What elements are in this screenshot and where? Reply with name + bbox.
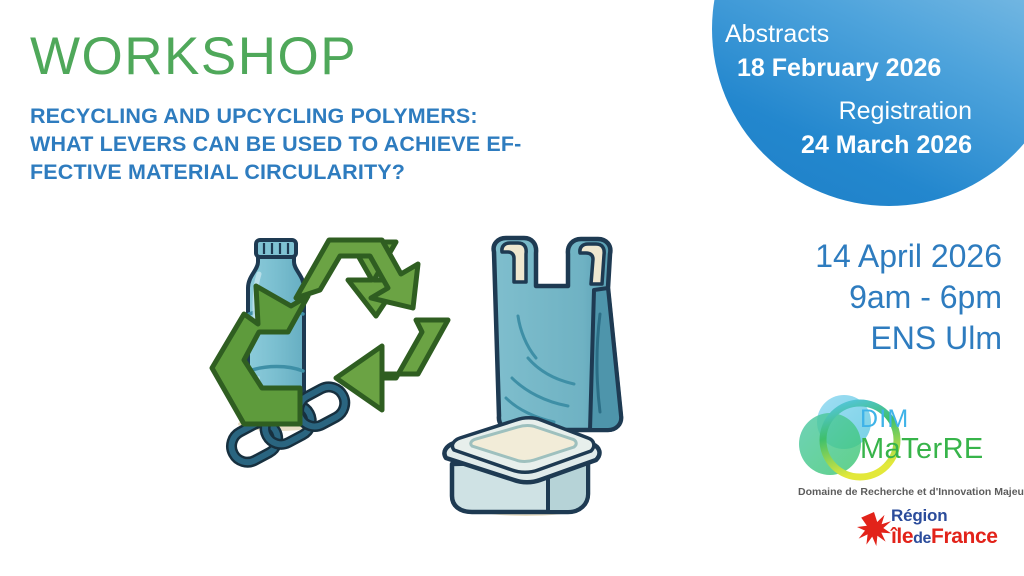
dim-materre-logo: DIM MaTerRE: [798, 392, 994, 488]
subtitle-line-1: RECYCLING AND UPCYCLING POLYMERS:: [30, 102, 630, 130]
deadline-abstracts-date: 18 February 2026: [725, 51, 1024, 85]
dim-line-1: DIM: [860, 406, 984, 433]
page-subtitle: RECYCLING AND UPCYCLING POLYMERS: WHAT L…: [30, 102, 630, 186]
idf-line-2: îledeFrance: [891, 525, 998, 550]
plastic-bag: [494, 238, 621, 430]
idf-france: France: [931, 525, 997, 548]
idf-line-1: Région: [891, 507, 998, 525]
deadline-registration: Registration 24 March 2026: [712, 95, 1024, 162]
dim-line-2: MaTerRE: [860, 433, 984, 465]
subtitle-line-2: WHAT LEVERS CAN BE USED TO ACHIEVE EF-: [30, 130, 630, 158]
idf-ile: île: [891, 525, 913, 548]
deadline-registration-date: 24 March 2026: [712, 128, 972, 162]
food-container: [444, 418, 599, 512]
idf-wordmark: Région îledeFrance: [891, 507, 998, 550]
event-venue: ENS Ulm: [702, 318, 1002, 359]
event-date: 14 April 2026: [702, 236, 1002, 277]
deadline-text-group: Abstracts 18 February 2026 Registration …: [712, 18, 1024, 172]
recycling-arrows: [212, 240, 448, 424]
dim-wordmark: DIM MaTerRE: [860, 406, 984, 465]
idf-de: de: [913, 530, 931, 547]
deadline-abstracts: Abstracts 18 February 2026: [712, 18, 1024, 85]
event-info-group: 14 April 2026 9am - 6pm ENS Ulm: [702, 236, 1002, 359]
deadline-abstracts-label: Abstracts: [725, 18, 1024, 51]
recycling-plastics-illustration: [196, 228, 646, 528]
starburst-icon: [857, 512, 891, 546]
subtitle-line-3: FECTIVE MATERIAL CIRCULARITY?: [30, 158, 630, 186]
heading-group: WORKSHOP RECYCLING AND UPCYCLING POLYMER…: [30, 28, 670, 186]
region-idf-logo: Région îledeFrance: [857, 507, 997, 551]
deadline-registration-label: Registration: [712, 95, 972, 128]
dim-tagline: Domaine de Recherche et d'Innovation Maj…: [798, 486, 998, 499]
event-time: 9am - 6pm: [702, 277, 1002, 318]
poster-canvas: Abstracts 18 February 2026 Registration …: [0, 0, 1024, 576]
page-title: WORKSHOP: [30, 28, 670, 86]
